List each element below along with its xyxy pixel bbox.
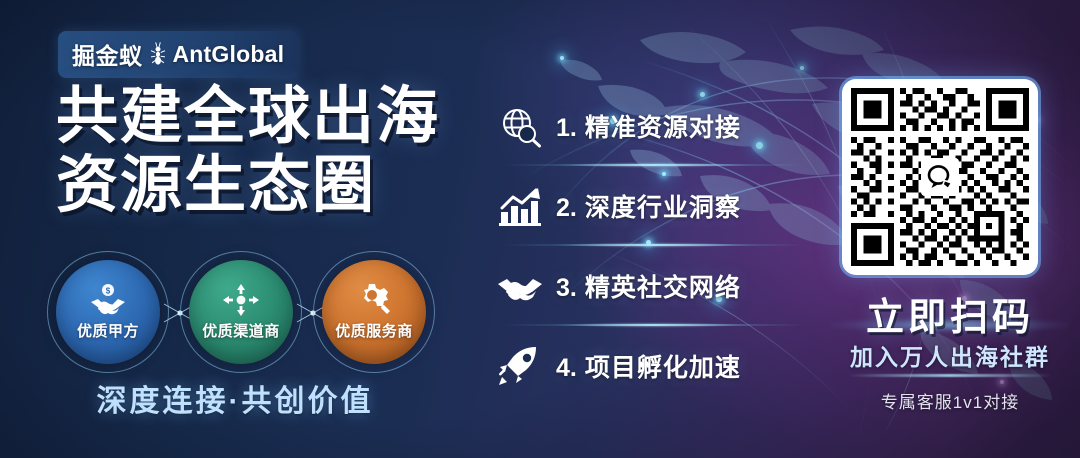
feature-label: 精准资源对接 [585, 114, 741, 142]
right-column: 立即扫码 加入万人出海社群 专属客服1v1对接 [820, 0, 1080, 458]
rocket-icon [496, 344, 544, 388]
role-badges: $ 优质甲方 [56, 256, 440, 368]
brand-logo: 掘金蚁 [58, 31, 298, 78]
tagline: 深度连接·共创价值 [0, 376, 470, 420]
growth-chart-icon [496, 184, 544, 228]
feature-number: 1. [556, 114, 577, 142]
wechat-chat-bubble-icon [921, 158, 959, 196]
headline: 共建全球出海 资源生态圈 [56, 82, 440, 221]
gear-wrench-icon [354, 283, 394, 317]
feature-text: 4. 项目孵化加速 [556, 348, 741, 384]
feature-text: 2. 深度行业洞察 [556, 188, 741, 224]
cta-note: 专属客服1v1对接 [820, 388, 1080, 413]
role-badge-label: 优质甲方 [77, 320, 139, 341]
cta-underline [848, 374, 1052, 377]
svg-text:$: $ [106, 287, 111, 296]
qr-canvas [851, 88, 1029, 266]
qr-code[interactable] [842, 79, 1038, 275]
feature-text: 3. 精英社交网络 [556, 268, 741, 304]
feature-label: 深度行业洞察 [585, 194, 741, 222]
handshake-icon [496, 264, 544, 308]
handshake-money-icon: $ [88, 283, 128, 317]
left-column: 掘金蚁 [0, 0, 470, 458]
role-badge-label: 优质服务商 [335, 320, 413, 341]
ant-icon [148, 41, 168, 67]
feature-item[interactable]: 4. 项目孵化加速 [496, 326, 796, 406]
feature-text: 1. 精准资源对接 [556, 108, 741, 144]
feature-item[interactable]: 1. 精准资源对接 [496, 86, 796, 166]
headline-line-2: 资源生态圈 [56, 151, 440, 220]
distribution-arrows-icon [221, 283, 261, 317]
feature-number: 2. [556, 194, 577, 222]
feature-label: 项目孵化加速 [585, 354, 741, 382]
globe-search-icon [496, 104, 544, 148]
brand-name-en: AntGlobal [173, 41, 285, 68]
promo-banner: 掘金蚁 [0, 0, 1080, 458]
feature-item[interactable]: 2. 深度行业洞察 [496, 166, 796, 246]
brand-name-cn: 掘金蚁 [72, 37, 143, 71]
feature-list: 1. 精准资源对接 [496, 86, 796, 406]
feature-item[interactable]: 3. 精英社交网络 [496, 246, 796, 326]
role-badge-label: 优质渠道商 [202, 320, 280, 341]
feature-number: 3. [556, 274, 577, 302]
cta-subtext: 加入万人出海社群 [820, 338, 1080, 372]
cta-headline: 立即扫码 [820, 286, 1080, 341]
feature-label: 精英社交网络 [585, 274, 741, 302]
feature-number: 4. [556, 354, 577, 382]
role-badge-buyer[interactable]: $ 优质甲方 [56, 260, 160, 364]
headline-line-1: 共建全球出海 [56, 82, 440, 151]
role-badge-channel[interactable]: 优质渠道商 [189, 260, 293, 364]
role-badge-service[interactable]: 优质服务商 [322, 260, 426, 364]
